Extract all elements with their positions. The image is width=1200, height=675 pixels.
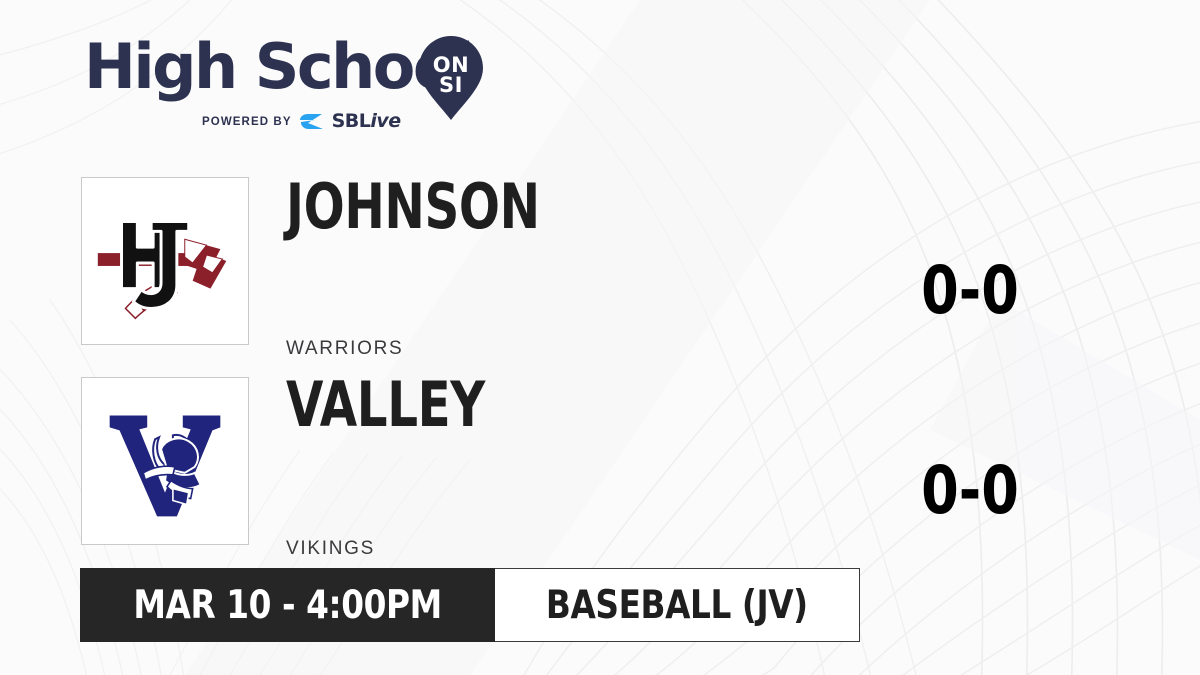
away-team-logo <box>81 177 249 345</box>
sblive-italic: ive <box>370 110 400 132</box>
game-datetime-chip: MAR 10 - 4:00PM <box>80 568 495 642</box>
away-team-name: JOHNSON <box>286 176 540 238</box>
brand-logo: High School ON SI POWERED BY SBLive <box>84 36 504 128</box>
powered-by-label: POWERED BY <box>202 116 292 128</box>
away-team-mascot: WARRIORS <box>286 338 403 360</box>
powered-by-block: POWERED BY SBLive <box>202 112 401 131</box>
home-team-mascot: VIKINGS <box>286 538 375 560</box>
home-team-record: 0-0 <box>888 458 1052 524</box>
sblive-wordmark: SBLive <box>332 112 401 131</box>
brand-wordmark: High School <box>84 36 472 98</box>
game-datetime-text: MAR 10 - 4:00PM <box>133 586 441 625</box>
home-team-name: VALLEY <box>286 374 485 436</box>
away-team-record: 0-0 <box>888 258 1052 324</box>
sblive-bold: SBL <box>332 110 371 132</box>
sblive-mark-icon <box>299 113 325 130</box>
home-team-logo <box>81 377 249 545</box>
game-sport-chip: BASEBALL (JV) <box>495 568 860 642</box>
svg-text:SI: SI <box>439 73 463 97</box>
matchup-graphic: High School ON SI POWERED BY SBLive <box>0 0 1200 675</box>
game-sport-text: BASEBALL (JV) <box>546 586 808 625</box>
game-info-bar: MAR 10 - 4:00PM BASEBALL (JV) <box>80 568 860 642</box>
on-si-pin-icon: ON SI <box>415 34 487 122</box>
